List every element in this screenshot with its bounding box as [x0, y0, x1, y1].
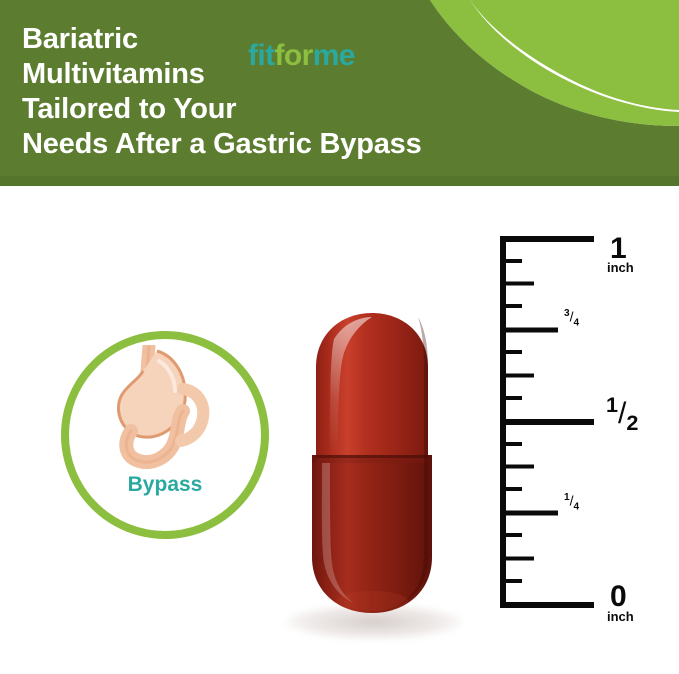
capsule-graphic: [306, 305, 438, 617]
capsule: [306, 305, 438, 617]
product-stage: Bypass: [0, 186, 679, 674]
ruler: 1 inch 3/4 1/2 1/4 0 inch: [492, 232, 652, 624]
ruler-label-one-half: 1/2: [606, 392, 638, 436]
frac-34-denominator: 4: [574, 317, 580, 328]
product-image: Bariatric Multivitamins Tailored to Your…: [0, 0, 679, 674]
bypass-badge: Bypass: [61, 331, 261, 531]
ruler-unit-bottom: inch: [607, 609, 634, 624]
brand-logo-part-me: me: [313, 39, 355, 72]
ruler-unit-top: inch: [607, 260, 634, 275]
brand-logo: fitforme: [248, 39, 355, 73]
brand-logo-part-fit: fit: [248, 39, 275, 72]
badge-label: Bypass: [61, 473, 269, 497]
ruler-label-three-quarters: 3/4: [564, 308, 579, 328]
frac-12-denominator: 2: [626, 410, 638, 435]
frac-14-denominator: 4: [574, 501, 580, 512]
frac-12-numerator: 1: [606, 392, 618, 417]
ruler-label-one-quarter: 1/4: [564, 492, 579, 512]
stomach-bypass-icon: [87, 345, 237, 473]
brand-logo-part-for: for: [275, 39, 313, 72]
header-banner: Bariatric Multivitamins Tailored to Your…: [0, 0, 679, 186]
